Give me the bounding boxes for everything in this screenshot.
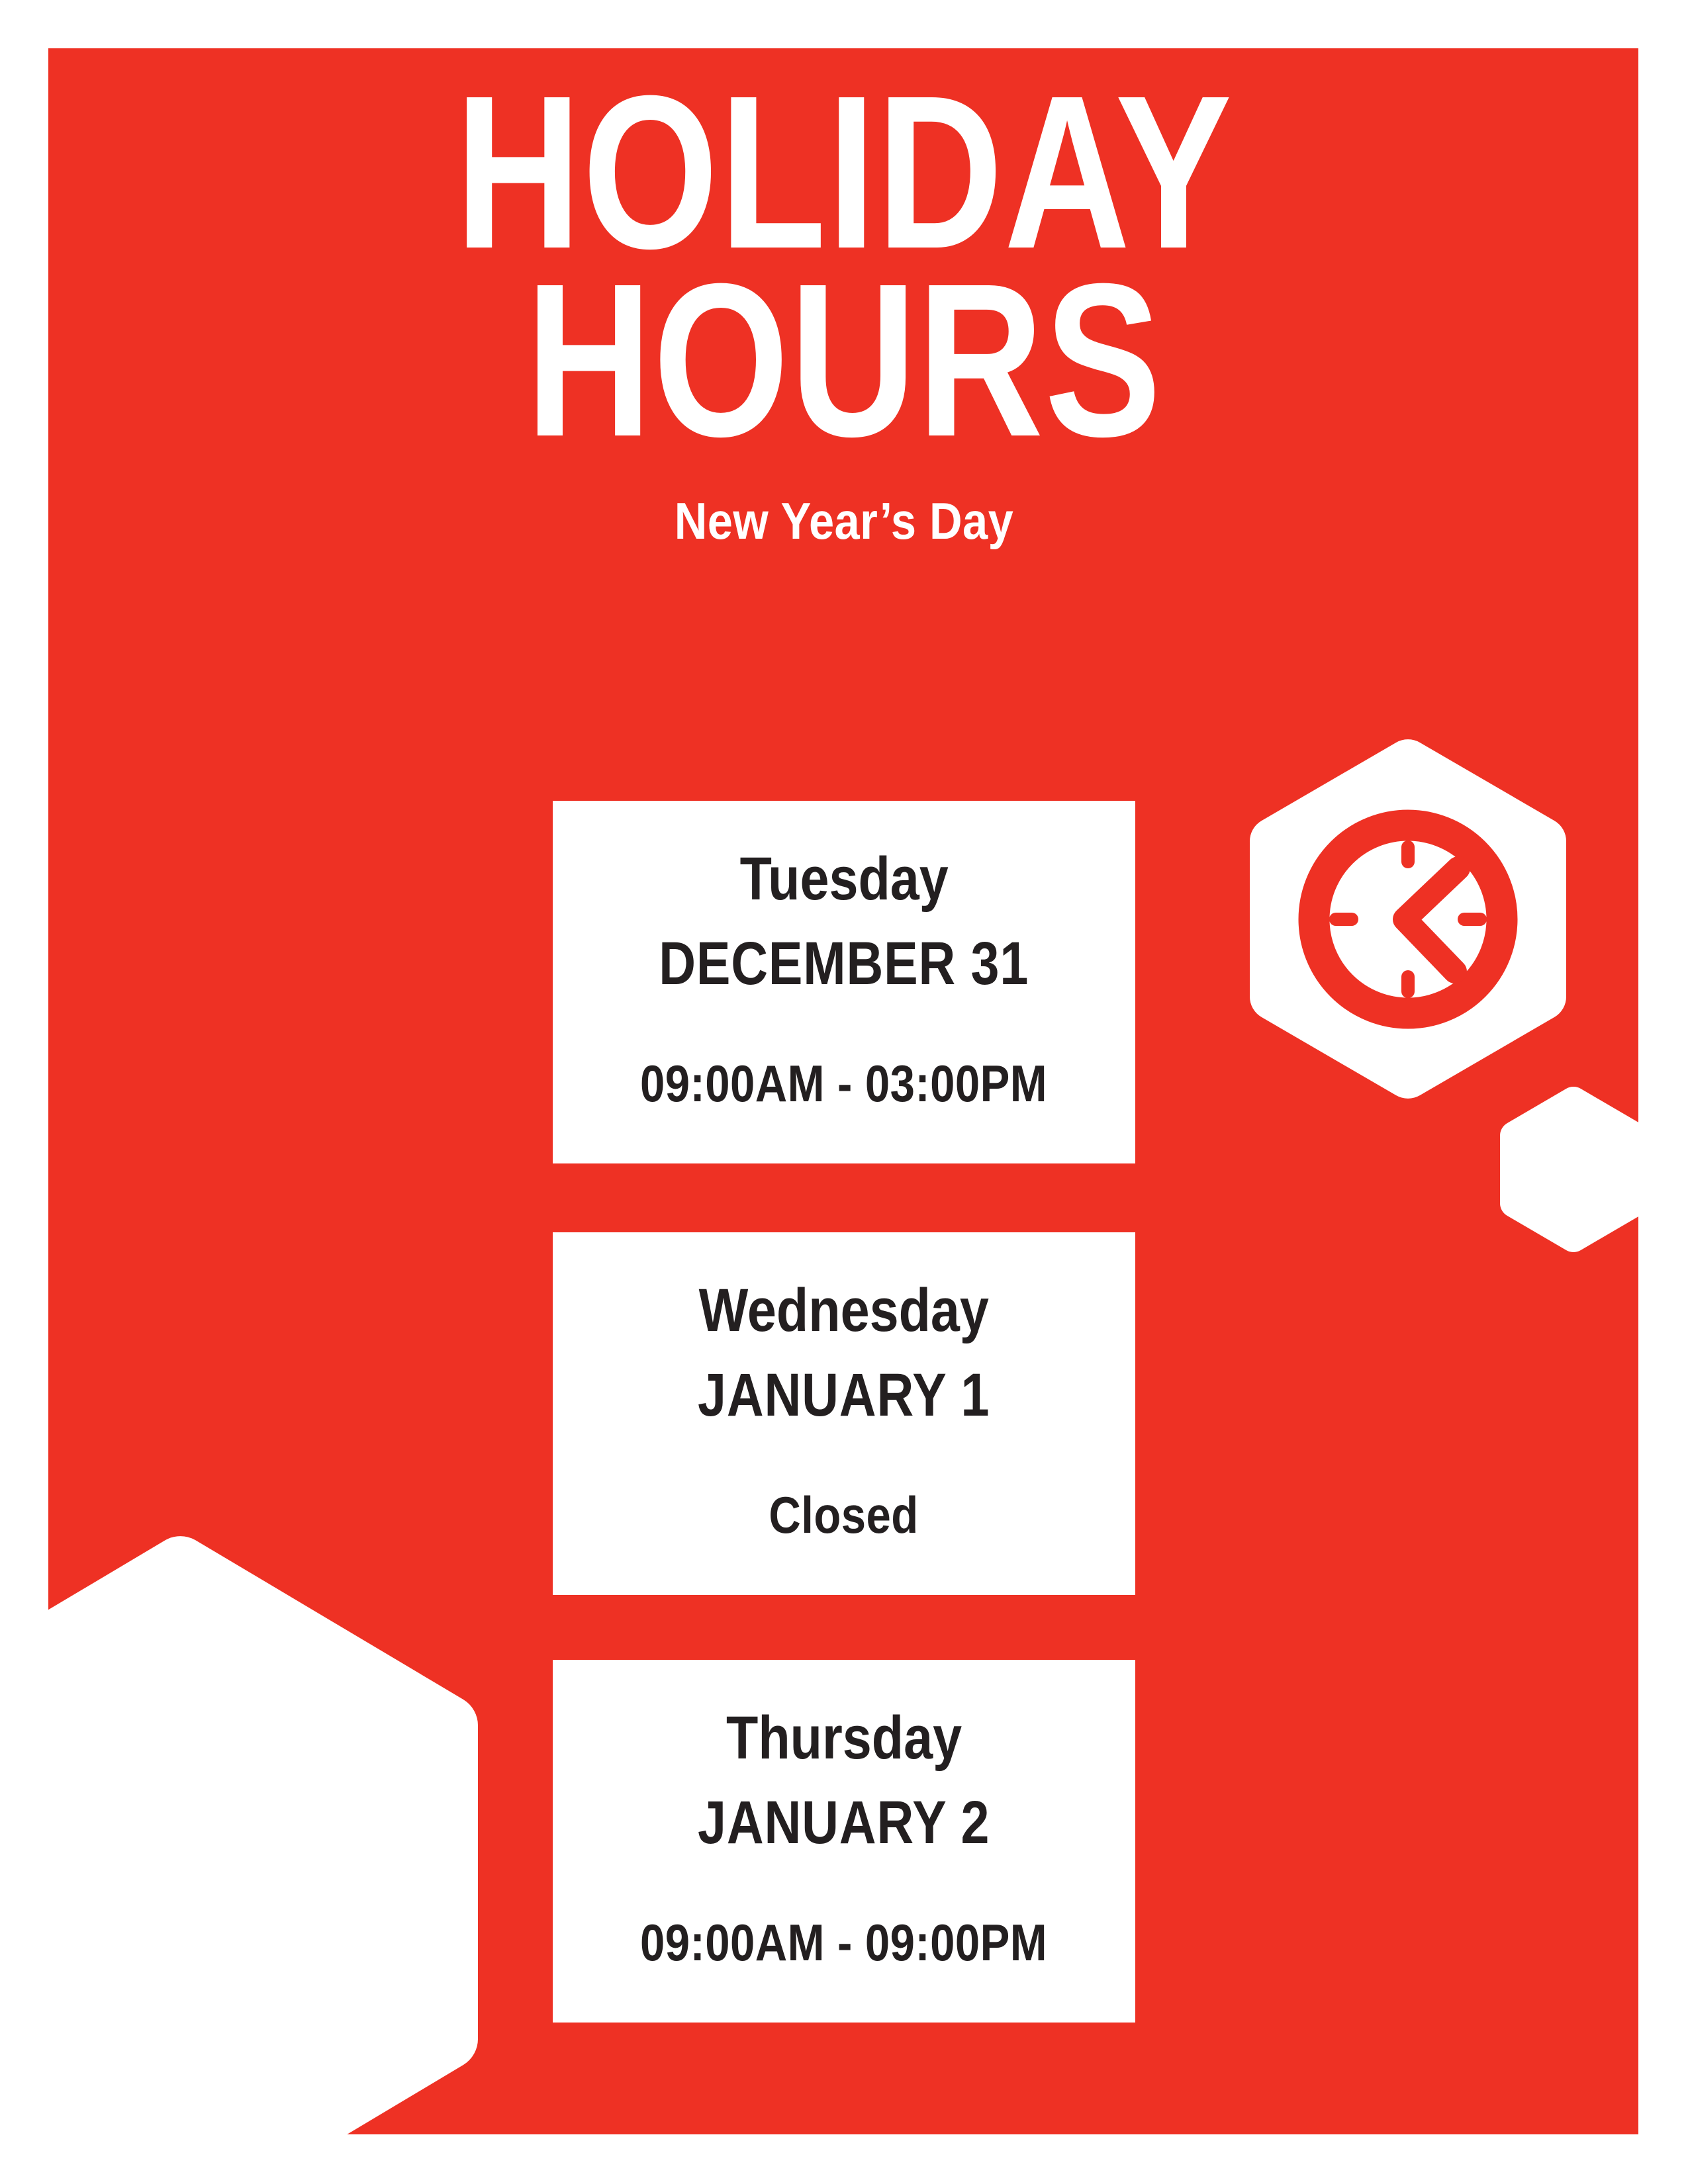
schedule-hours: 09:00AM - 09:00PM (640, 1853, 1047, 1968)
page-title-line-2: HOURS (169, 266, 1519, 454)
schedule-date: JANUARY 2 (698, 1768, 990, 1853)
schedule-card: Wednesday JANUARY 1 Closed (553, 1232, 1135, 1595)
schedule-day: Thursday (726, 1660, 962, 1768)
schedule-hours: Closed (769, 1426, 919, 1541)
schedule-day: Tuesday (739, 801, 948, 909)
schedule-card: Thursday JANUARY 2 09:00AM - 09:00PM (553, 1660, 1135, 2023)
page-title-line-1: HOLIDAY (169, 0, 1519, 266)
schedule-card: Tuesday DECEMBER 31 09:00AM - 03:00PM (553, 801, 1135, 1163)
schedule-date: JANUARY 1 (698, 1341, 990, 1426)
schedule-date: DECEMBER 31 (659, 909, 1029, 994)
schedule-hours: 09:00AM - 03:00PM (640, 994, 1047, 1109)
poster-canvas: HOLIDAY HOURS New Year’s Day Tuesday DEC… (0, 0, 1688, 2184)
schedule-day: Wednesday (699, 1232, 989, 1341)
page-subtitle: New Year’s Day (101, 454, 1587, 547)
poster-heading: HOLIDAY HOURS New Year’s Day (0, 0, 1688, 547)
